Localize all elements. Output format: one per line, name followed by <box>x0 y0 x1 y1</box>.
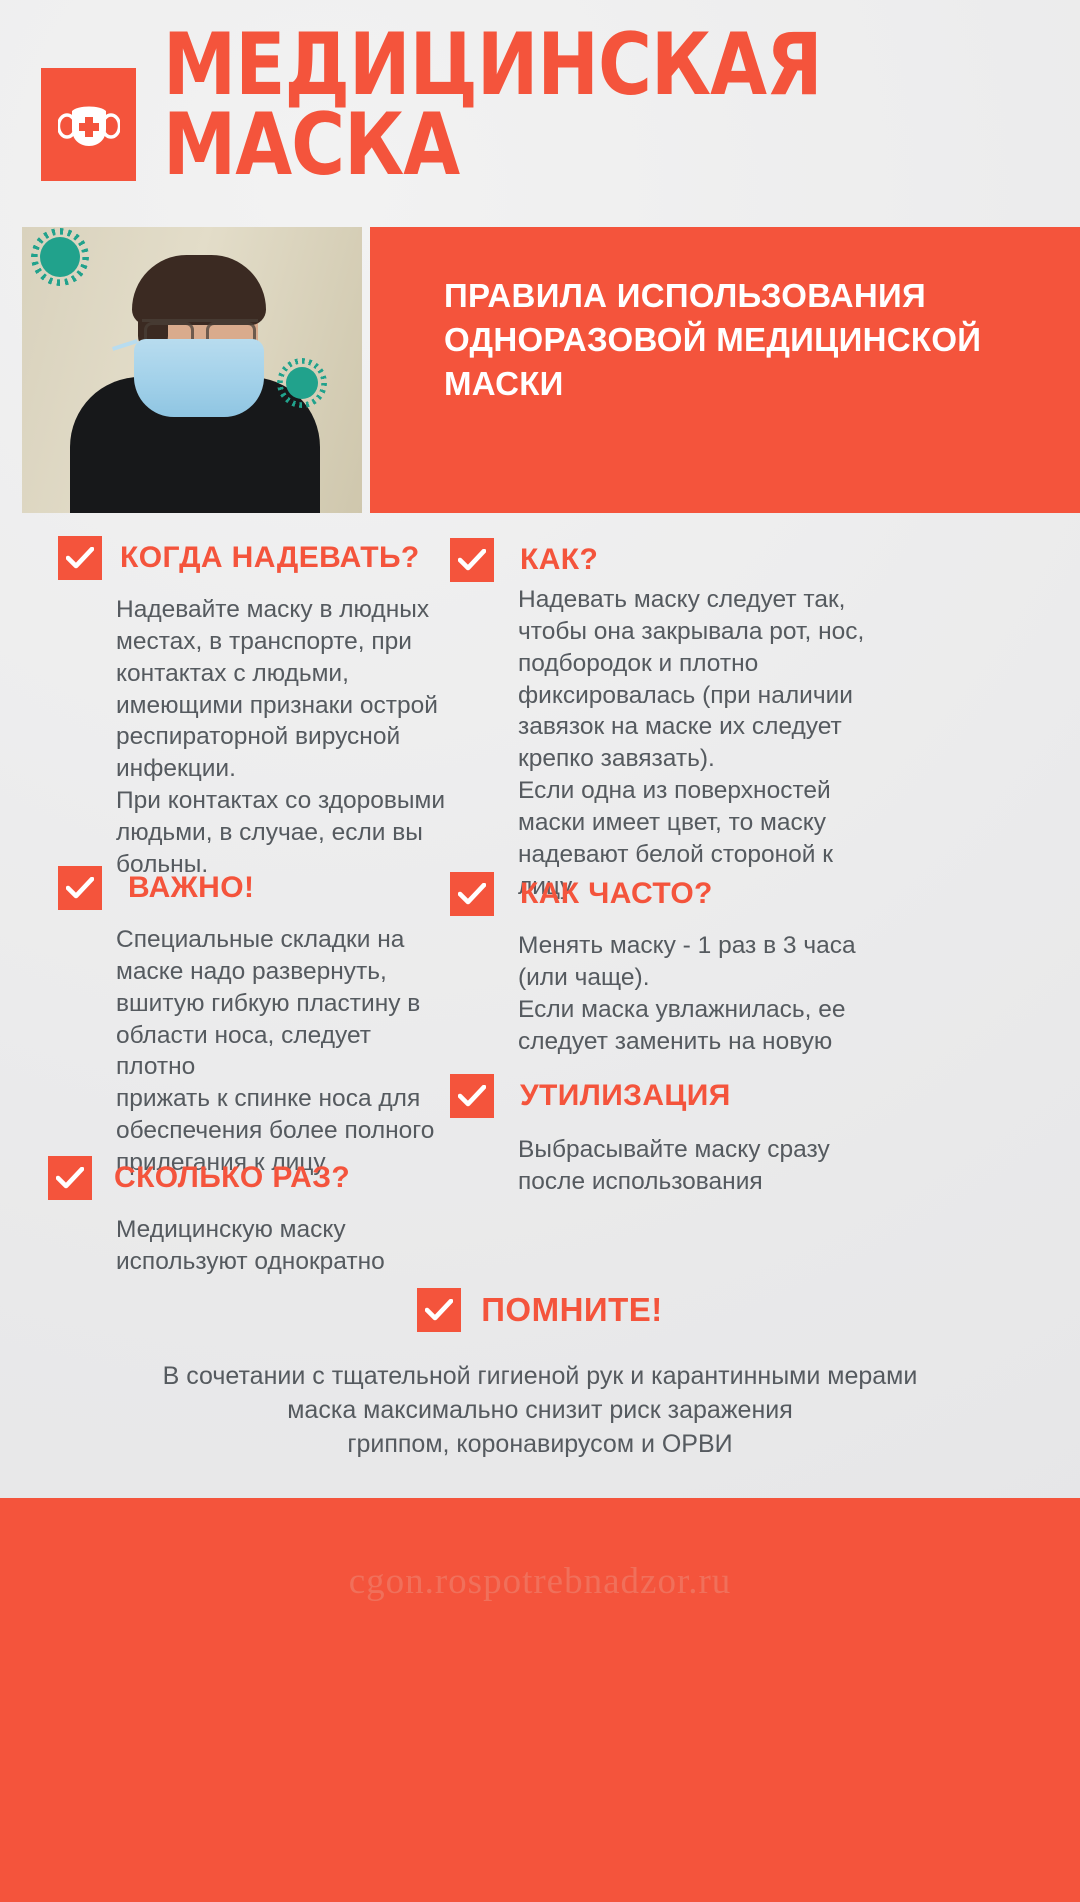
section-body: Надевать маску следует так, чтобы она за… <box>518 584 1070 902</box>
title-line-2: МАСКА <box>163 106 1018 186</box>
virus-icon <box>286 367 318 399</box>
section-header: СКОЛЬКО РАЗ? <box>48 1156 448 1200</box>
section-title: ПОМНИТЕ! <box>481 1291 663 1329</box>
footer-bar: cgon.rospotrebnadzor.ru <box>0 1498 1080 1902</box>
section-title: СКОЛЬКО РАЗ? <box>114 1161 350 1195</box>
section-title: УТИЛИЗАЦИЯ <box>520 1079 731 1113</box>
section-title: КАК? <box>520 543 598 577</box>
check-icon <box>450 872 494 916</box>
section-header: ПОМНИТЕ! <box>417 1288 663 1332</box>
check-icon <box>450 538 494 582</box>
footer-url[interactable]: cgon.rospotrebnadzor.ru <box>0 1560 1080 1603</box>
section-body: Медицинскую маску используют однократно <box>116 1214 448 1278</box>
check-icon <box>48 1156 92 1200</box>
check-icon <box>58 536 102 580</box>
section-how: КАК? Надевать маску следует так, чтобы о… <box>450 538 1070 902</box>
section-body: Надевайте маску в людных местах, в транс… <box>116 594 448 881</box>
virus-icon <box>40 237 80 277</box>
section-disposal: УТИЛИЗАЦИЯ Выбрасывайте маску сразу посл… <box>450 1074 1070 1198</box>
page-title: МЕДИЦИНСКАЯ МАСКА <box>163 26 1063 186</box>
section-when-to-wear: КОГДА НАДЕВАТЬ? Надевайте маску в людных… <box>58 536 448 881</box>
section-header: КАК ЧАСТО? <box>450 872 1070 916</box>
section-title: КАК ЧАСТО? <box>520 877 713 911</box>
section-body: Менять маску - 1 раз в 3 часа (или чаще)… <box>518 930 1070 1057</box>
section-important: ВАЖНО! Специальные складки на маске надо… <box>58 866 448 1179</box>
section-how-many-times: СКОЛЬКО РАЗ? Медицинскую маску использую… <box>48 1156 448 1278</box>
poster-root: МЕДИЦИНСКАЯ МАСКА ПРАВИЛА ИСПОЛЬЗОВАНИЯ … <box>0 0 1080 1902</box>
subtitle-text: ПРАВИЛА ИСПОЛЬЗОВАНИЯ ОДНОРАЗОВОЙ МЕДИЦИ… <box>444 274 1056 406</box>
check-icon <box>58 866 102 910</box>
medical-mask-icon <box>41 68 136 181</box>
section-body: Выбрасывайте маску сразу после использов… <box>518 1134 1070 1198</box>
surgical-mask-on-face <box>134 339 264 417</box>
poster-header: МЕДИЦИНСКАЯ МАСКА <box>0 0 1080 215</box>
hero-photo <box>22 227 362 513</box>
section-title: ВАЖНО! <box>128 871 254 905</box>
subtitle-panel: ПРАВИЛА ИСПОЛЬЗОВАНИЯ ОДНОРАЗОВОЙ МЕДИЦИ… <box>370 227 1080 513</box>
section-how-often: КАК ЧАСТО? Менять маску - 1 раз в 3 часа… <box>450 872 1070 1057</box>
section-title: КОГДА НАДЕВАТЬ? <box>120 541 420 575</box>
section-header: КОГДА НАДЕВАТЬ? <box>58 536 448 580</box>
section-body: Специальные складки на маске надо развер… <box>116 924 448 1179</box>
section-remember: ПОМНИТЕ! В сочетании с тщательной гигиен… <box>0 1288 1080 1461</box>
title-line-1: МЕДИЦИНСКАЯ <box>163 26 1018 106</box>
section-header: КАК? <box>450 538 1070 582</box>
check-icon <box>417 1288 461 1332</box>
section-header: УТИЛИЗАЦИЯ <box>450 1074 1070 1118</box>
section-header: ВАЖНО! <box>58 866 448 910</box>
check-icon <box>450 1074 494 1118</box>
section-body: В сочетании с тщательной гигиеной рук и … <box>0 1359 1080 1461</box>
